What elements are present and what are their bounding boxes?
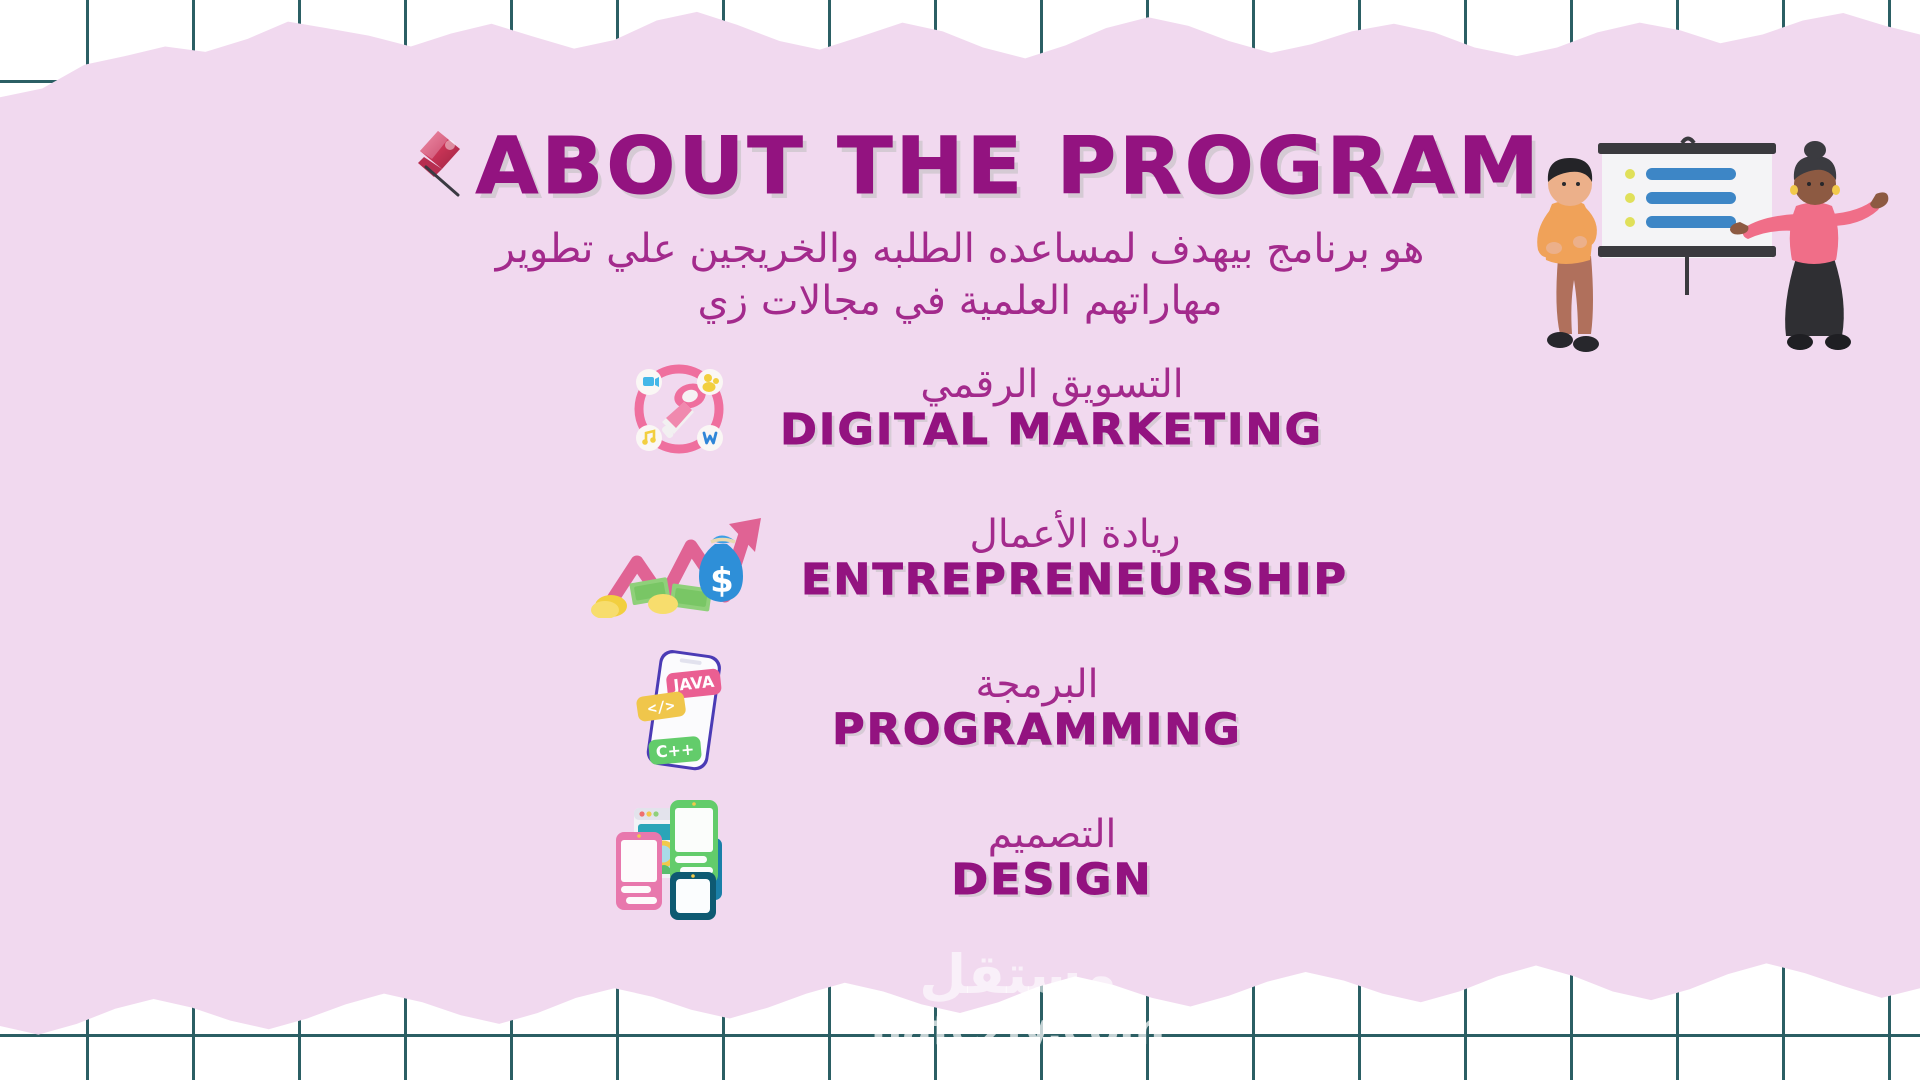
watermark-site: nafezly.com [838,1008,1198,1052]
cpp-tag-label: C++ [655,739,695,761]
list-item-text: ريادة الأعمال ENTREPRENEURSHIP [809,515,1340,603]
presentation-board-people-illustration [1508,118,1908,368]
growth-chart-money-icon: $ [579,500,775,618]
pushpin-icon [398,123,478,203]
field-english-label: ENTREPRENEURSHIP [802,558,1349,603]
list-item[interactable]: التصميم DESIGN [0,795,1920,923]
code-tag-label: </> [646,696,675,718]
field-english-label: DIGITAL MARKETING [781,408,1324,453]
description-line-1: هو برنامج بيهدف لمساعده الطلبه والخريجين… [400,223,1520,275]
field-arabic-label: التسويق الرقمي [788,365,1315,406]
bullet-dot [1625,217,1635,227]
list-item[interactable]: JAVA </> C++ البرمجة PROGRAMMING [0,645,1920,773]
field-english-label: PROGRAMMING [769,708,1305,753]
field-english-label: DESIGN [784,858,1320,903]
list-item[interactable]: $ ريادة الأعمال ENTREPRENEURSHIP [0,495,1920,623]
watermark-arabic: مستقل [838,948,1198,1002]
list-item-text: التصميم DESIGN [792,815,1312,903]
list-item-text: البرمجة PROGRAMMING [777,665,1297,753]
bullet-dot [1625,193,1635,203]
field-arabic-label: البرمجة [777,665,1297,706]
description-line-2: مهاراتهم العلمية في مجالات زي [400,275,1520,327]
dollar-sign-label: $ [711,561,735,601]
program-description: هو برنامج بيهدف لمساعده الطلبه والخريجين… [400,223,1520,327]
bullet-dot [1625,169,1635,179]
device-mockups-design-icon [608,794,758,924]
bullet-line [1646,168,1736,180]
watermark: مستقل nafezly.com [838,948,1198,1052]
megaphone-marketing-icon [604,350,754,468]
smartphone-code-icon: JAVA </> C++ [623,642,743,776]
field-arabic-label: التصميم [792,815,1312,856]
field-arabic-label: ريادة الأعمال [809,515,1340,556]
bullet-line [1646,216,1736,228]
person-left [1537,158,1599,352]
list-item-text: التسويق الرقمي DIGITAL MARKETING [788,365,1315,453]
bullet-line [1646,192,1736,204]
program-fields-list: التسويق الرقمي DIGITAL MARKETING [0,345,1920,857]
slide-content: ABOUT THE PROGRAM هو برنامج بيهدف لمساعد… [0,0,1920,1080]
page-title: ABOUT THE PROGRAM [476,128,1542,206]
